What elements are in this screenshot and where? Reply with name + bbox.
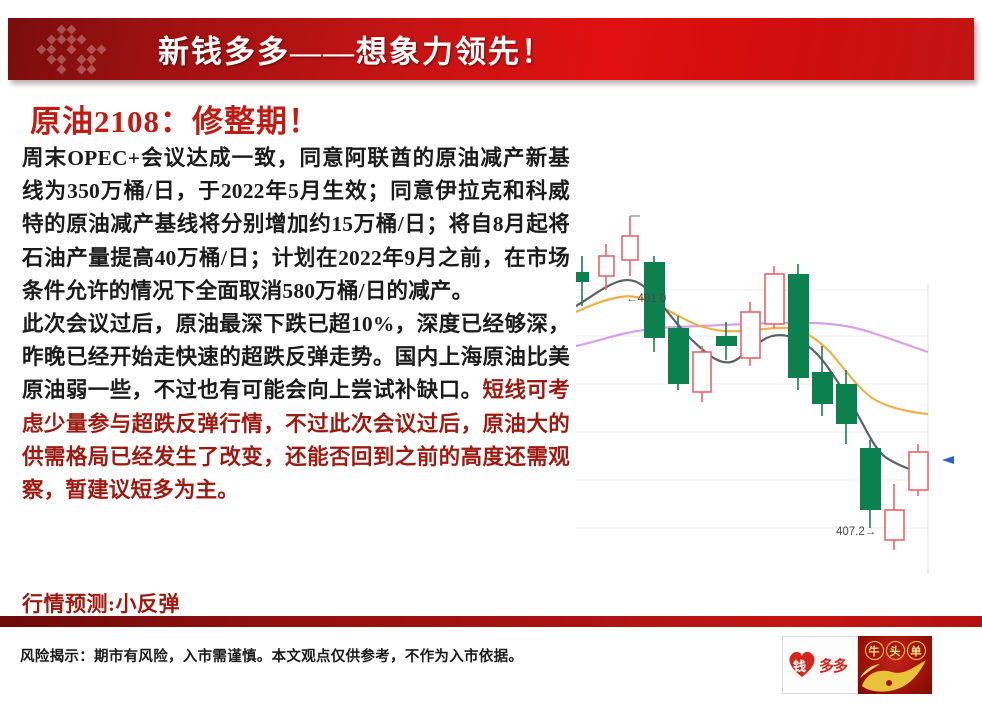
slide-content: 原油2108：修整期！ 周末OPEC+会议达成一致，同意阿联酋的原油减产新基线为… bbox=[0, 88, 982, 600]
risk-disclaimer: 风险揭示：期市有风险，入市需谨慎。本文观点仅供参考，不作为入市依据。 bbox=[20, 645, 523, 666]
logo-ntd-char-3: 单 bbox=[907, 641, 926, 660]
candle-10 bbox=[788, 264, 809, 390]
forecast-label: 行情预测:小反弹 bbox=[22, 588, 180, 618]
logo-ntd-char-1: 牛 bbox=[865, 641, 884, 660]
logo-qian-char: 钱 bbox=[793, 656, 806, 675]
logo-qianduoduo: 钱 多多 bbox=[782, 636, 858, 694]
article-paragraph-1: 周末OPEC+会议达成一致，同意阿联酋的原油减产新基线为350万桶/日，于202… bbox=[22, 146, 570, 303]
page-title: 原油2108：修整期！ bbox=[30, 96, 320, 141]
candle-8 bbox=[741, 302, 760, 366]
candlestick-chart[interactable]: ←481.0 407.2→ bbox=[576, 194, 956, 598]
chart-high-label: ←481.0 bbox=[626, 293, 666, 305]
logo-ntd-char-2: 头 bbox=[886, 641, 905, 660]
logo-duoduo-text: 多多 bbox=[819, 655, 847, 676]
header-banner: 新钱多多——想象力领先！ bbox=[8, 18, 974, 80]
footer-logos: 钱 多多 牛 头 单 bbox=[782, 636, 932, 694]
bull-icon bbox=[858, 656, 932, 694]
logo-niutoudan: 牛 头 单 bbox=[858, 636, 932, 694]
diamond-lattice-logo-icon bbox=[32, 22, 118, 78]
banner-title: 新钱多多——想象力领先！ bbox=[158, 27, 554, 72]
footer-divider bbox=[0, 616, 982, 627]
candle-9 bbox=[765, 266, 784, 328]
chart-canvas[interactable] bbox=[576, 194, 956, 598]
logo-ntd-chars: 牛 头 单 bbox=[858, 641, 932, 660]
chart-low-label: 407.2→ bbox=[836, 526, 876, 538]
candle-15 bbox=[909, 444, 928, 496]
article-body: 周末OPEC+会议达成一致，同意阿联酋的原油减产新基线为350万桶/日，于202… bbox=[22, 142, 570, 507]
